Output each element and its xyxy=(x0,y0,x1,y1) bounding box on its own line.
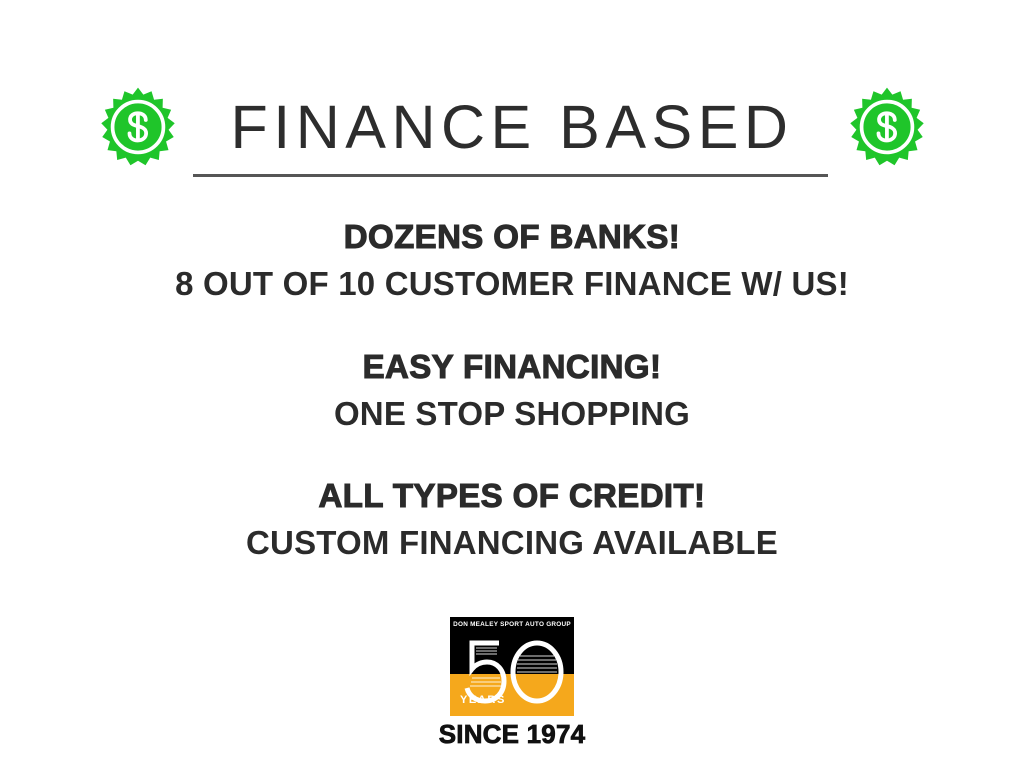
logo-since-text: SINCE 1974 xyxy=(439,719,586,750)
copy-headline-credit: ALL TYPES OF CREDIT! xyxy=(0,473,1024,520)
copy-subline-easy-financing: ONE STOP SHOPPING xyxy=(0,391,1024,438)
page-title: FINANCE BASED xyxy=(179,97,846,158)
badge-years-label: YEARS xyxy=(460,694,506,706)
copy-block-credit: ALL TYPES OF CREDIT! CUSTOM FINANCING AV… xyxy=(0,473,1024,567)
body-copy: DOZENS OF BANKS! 8 OUT OF 10 CUSTOMER FI… xyxy=(0,214,1024,567)
anniversary-badge: DON MEALEY SPORT AUTO GROUP xyxy=(450,617,574,716)
title-divider xyxy=(193,174,828,177)
finance-based-slide: FINANCE BASED DOZENS OF BANKS! 8 OUT OF … xyxy=(0,0,1024,768)
copy-headline-easy-financing: EASY FINANCING! xyxy=(0,344,1024,391)
copy-block-banks: DOZENS OF BANKS! 8 OUT OF 10 CUSTOMER FI… xyxy=(0,214,1024,308)
copy-subline-credit: CUSTOM FINANCING AVAILABLE xyxy=(0,520,1024,567)
dealer-logo: DON MEALEY SPORT AUTO GROUP xyxy=(0,617,1024,750)
copy-headline-banks: DOZENS OF BANKS! xyxy=(0,214,1024,261)
copy-block-easy-financing: EASY FINANCING! ONE STOP SHOPPING xyxy=(0,344,1024,438)
money-gear-icon-left xyxy=(97,86,179,168)
money-gear-icon-right xyxy=(846,86,928,168)
copy-subline-banks: 8 OUT OF 10 CUSTOMER FINANCE W/ US! xyxy=(0,261,1024,308)
slide-header: FINANCE BASED xyxy=(0,72,1024,182)
